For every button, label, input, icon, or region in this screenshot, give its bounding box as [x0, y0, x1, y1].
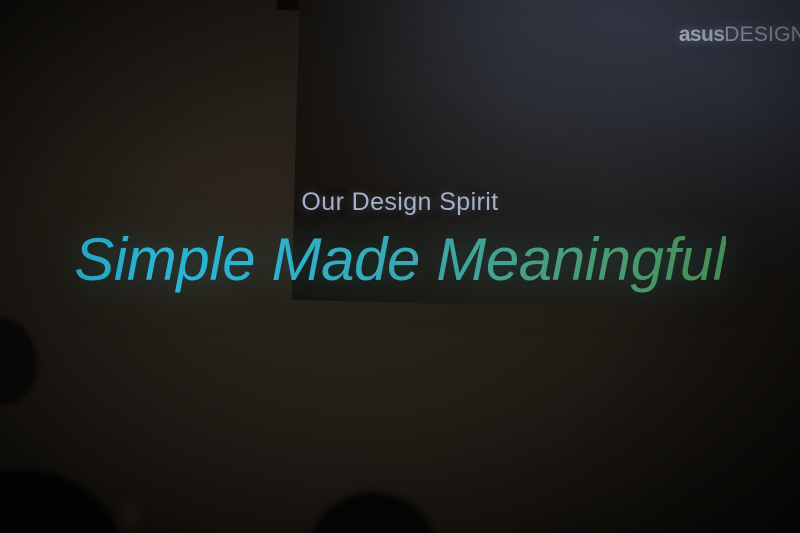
slide-text-block: Our Design Spirit Simple Made Meaningful [0, 190, 800, 293]
logo-design-text: DESIGN [724, 23, 800, 46]
foreground-blur-smudge [118, 500, 142, 533]
slide-headline-wrapper: Simple Made Meaningful [0, 228, 800, 293]
slide-headline: Simple Made Meaningful [74, 228, 726, 293]
slide-photo: asusDESIGN Our Design Spirit Simple Made… [0, 0, 800, 533]
asus-design-logo: asusDESIGN [679, 24, 800, 45]
slide-subtitle: Our Design Spirit [0, 190, 800, 215]
logo-asus-text: asus [679, 23, 724, 46]
